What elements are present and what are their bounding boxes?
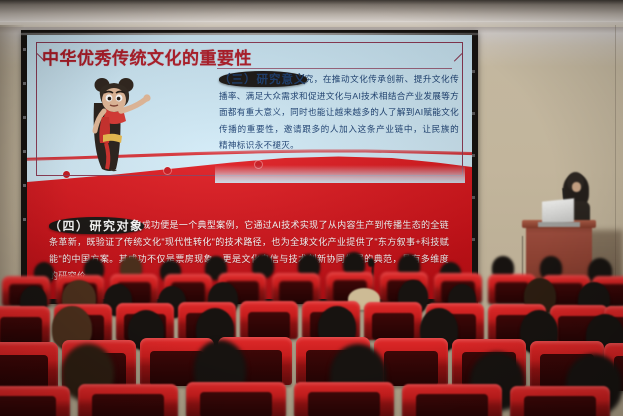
slide-title: 中华优秀传统文化的重要性 (42, 44, 252, 69)
wave-dot-icon (63, 171, 70, 178)
ceiling-seam (0, 21, 623, 22)
title-underline (217, 68, 452, 69)
seat (240, 301, 298, 339)
bezel-right-edge-reflections (472, 70, 475, 250)
audience-seating (0, 258, 623, 416)
wave-dot-icon (255, 161, 262, 168)
seat (510, 386, 610, 416)
seat (0, 386, 70, 416)
seat (0, 306, 50, 344)
speaker-face (572, 182, 581, 192)
seat (78, 384, 178, 416)
seat (402, 384, 502, 416)
seat (0, 342, 58, 390)
ceiling-band (0, 0, 623, 27)
seat (272, 273, 320, 303)
seat (364, 302, 422, 340)
bezel-left-edge-reflections (23, 48, 26, 238)
conference-hall-photo: 中华优秀传统文化的重要性 (0, 0, 623, 416)
slide-section-research-significance: （三）研究意义 对于本论题的研究，在推动文化传承创新、提升文化传播率、满足大众需… (219, 71, 459, 154)
section-heading: （四）研究对象 (49, 217, 144, 234)
seat (294, 382, 394, 416)
wave-dot-icon (164, 167, 171, 174)
nezha-character-icon (80, 73, 154, 177)
laptop-base (538, 222, 580, 227)
seat (186, 382, 286, 416)
section-heading: （三）研究意义 (219, 71, 307, 87)
